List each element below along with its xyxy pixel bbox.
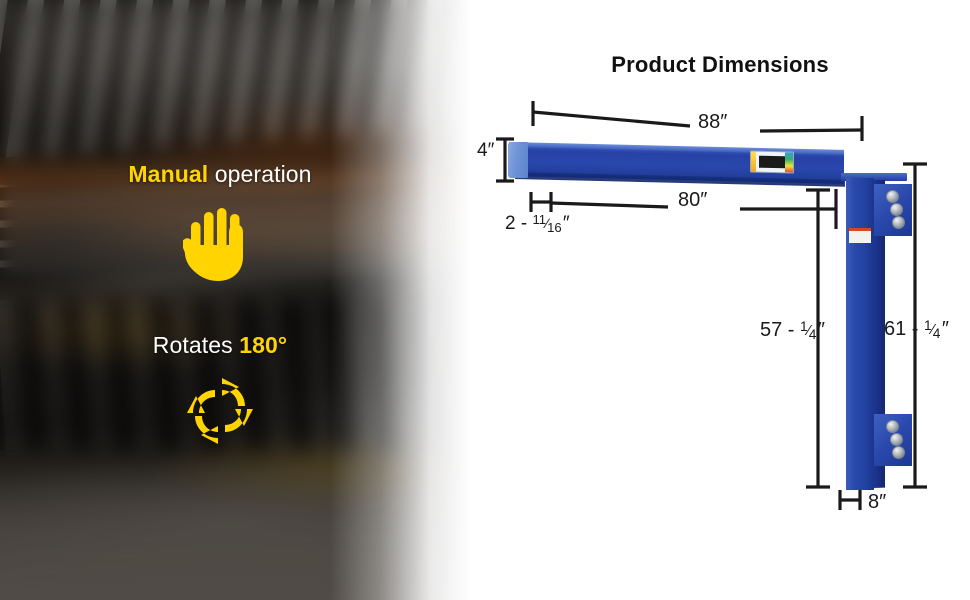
product-dimensions-banner: Manual operation Rotates 180° <box>0 0 970 600</box>
hand-icon <box>183 205 257 283</box>
dim-61-numerator: 1 <box>924 318 932 333</box>
dim-216-suffix: ″ <box>563 213 570 234</box>
dim-57-whole: 57 - <box>760 319 800 341</box>
caption-manual-rest: operation <box>208 161 311 187</box>
jib-boom-end-cap <box>508 142 528 178</box>
label-color-strip <box>785 152 793 172</box>
dim-216-fraction: 11⁄16 <box>532 215 562 233</box>
dim-label-4: 4″ <box>477 140 494 162</box>
page-title: Product Dimensions <box>470 52 970 78</box>
dim-61-denominator: 4 <box>933 326 941 341</box>
bolt-icon <box>886 420 899 433</box>
mast-column <box>846 178 874 490</box>
dim-61-whole: 61 - <box>884 318 924 340</box>
dim-label-2-11-16: 2 - 11⁄16″ <box>505 213 570 235</box>
caption-rotates: Rotates 180° <box>0 332 440 359</box>
mast-warning-label <box>849 228 871 243</box>
dim-label-80: 80″ <box>678 189 707 212</box>
dim-label-88: 88″ <box>698 111 727 134</box>
dim-57-denominator: 4 <box>809 327 817 342</box>
dim-216-denominator: 16 <box>547 220 562 235</box>
dim-57-suffix: ″ <box>818 319 825 341</box>
dim-61-suffix: ″ <box>942 318 949 340</box>
dim-label-57-1-4: 57 - 1⁄4″ <box>760 319 825 342</box>
photo-white-fade <box>0 0 490 600</box>
bolt-icon <box>890 203 903 216</box>
dim-label-61-1-4: 61 - 1⁄4″ <box>884 318 949 341</box>
dimension-diagram-panel: Product Dimensions <box>470 0 970 600</box>
workshop-photo-panel: Manual operation Rotates 180° <box>0 0 490 600</box>
top-mounting-bracket <box>874 184 912 236</box>
bolt-icon <box>890 433 903 446</box>
bolt-icon <box>892 446 905 459</box>
dim-label-8: 8″ <box>868 491 886 514</box>
boom-capacity-label <box>750 151 794 174</box>
bolt-icon <box>892 216 905 229</box>
dim-57-numerator: 1 <box>800 319 808 334</box>
dim-57-fraction: 1⁄4 <box>800 321 818 340</box>
dim-216-numerator: 11 <box>532 212 546 227</box>
caption-rotates-highlight: 180° <box>239 332 287 358</box>
rotate-icon <box>187 378 253 444</box>
label-left-stripe <box>751 152 756 172</box>
caption-manual-operation: Manual operation <box>0 161 440 188</box>
caption-manual-highlight: Manual <box>128 161 208 187</box>
rotate-icon-wrap <box>0 378 440 449</box>
dim-61-fraction: 1⁄4 <box>924 320 942 339</box>
caption-rotates-prefix: Rotates <box>153 332 239 358</box>
label-text-block <box>759 156 785 169</box>
bottom-mounting-bracket <box>874 414 912 466</box>
dim-216-whole: 2 - <box>505 213 532 234</box>
hand-icon-wrap <box>0 205 440 288</box>
bolt-icon <box>886 190 899 203</box>
